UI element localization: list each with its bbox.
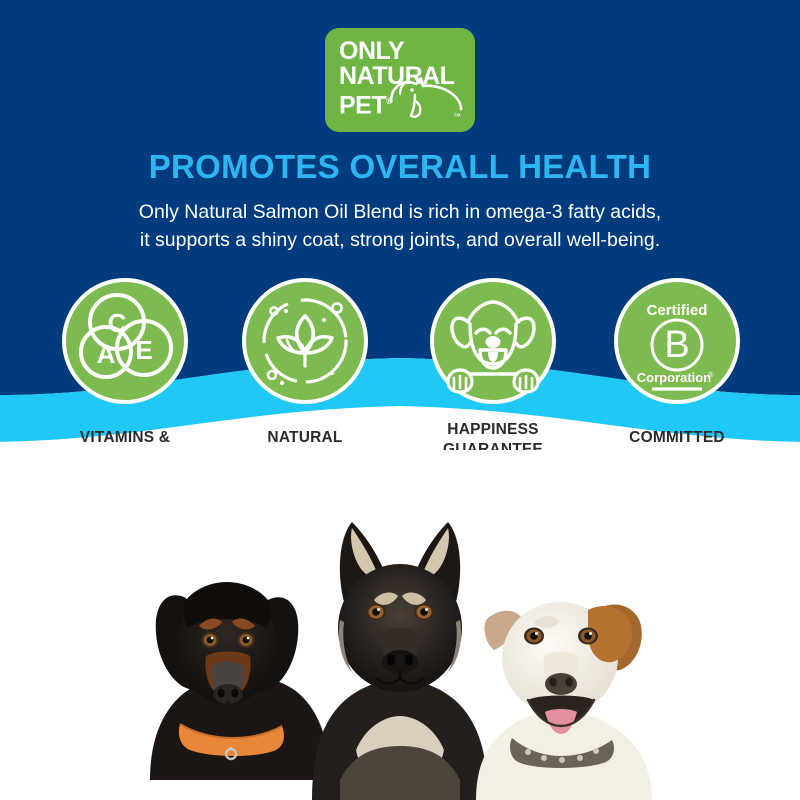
badge-natural-label-line-1: NATURAL xyxy=(195,428,415,448)
badge-b-corporation: Certified B Corporation ® xyxy=(614,278,740,404)
natural-leaf-icon xyxy=(242,278,368,404)
hero-subcopy-line-1: Only Natural Salmon Oil Blend is rich in… xyxy=(0,198,800,226)
badge-happiness-guarantee xyxy=(430,278,556,404)
vitamin-letter-e: E xyxy=(135,335,152,365)
bcorp-certified-text: Certified xyxy=(647,302,708,319)
badge-vitamins: C A E xyxy=(62,278,188,404)
hero-subcopy: Only Natural Salmon Oil Blend is rich in… xyxy=(0,198,800,254)
happy-dog-icon xyxy=(430,278,556,404)
bcorp-registered-mark: ® xyxy=(708,371,714,379)
badge-natural-ingredients xyxy=(242,278,368,404)
brand-logo: ONLY NATURAL PET® ™ xyxy=(325,28,475,132)
vitamins-circles-icon: C A E xyxy=(62,278,188,404)
vitamin-letter-a: A xyxy=(97,339,116,369)
badge-sustainability-label-line-1: COMMITTED xyxy=(567,428,787,448)
bcorp-letter-b: B xyxy=(664,324,689,366)
promo-graphic: ONLY NATURAL PET® ™ PROMOTES OVERALL HEA… xyxy=(0,0,800,800)
page-title: PROMOTES OVERALL HEALTH xyxy=(0,148,800,186)
logo-trademark-mark: ™ xyxy=(453,112,461,121)
hero-subcopy-line-2: it supports a shiny coat, strong joints,… xyxy=(0,226,800,254)
logo-line-1: ONLY xyxy=(339,37,404,65)
bcorp-corporation-text: Corporation xyxy=(637,370,711,385)
vitamin-letter-c: C xyxy=(108,308,127,338)
logo-line-3: PET xyxy=(339,91,386,119)
logo-dog-icon: ™ xyxy=(385,71,467,128)
dogs-photo xyxy=(0,450,800,800)
b-corp-certified-icon: Certified B Corporation ® xyxy=(614,278,740,404)
